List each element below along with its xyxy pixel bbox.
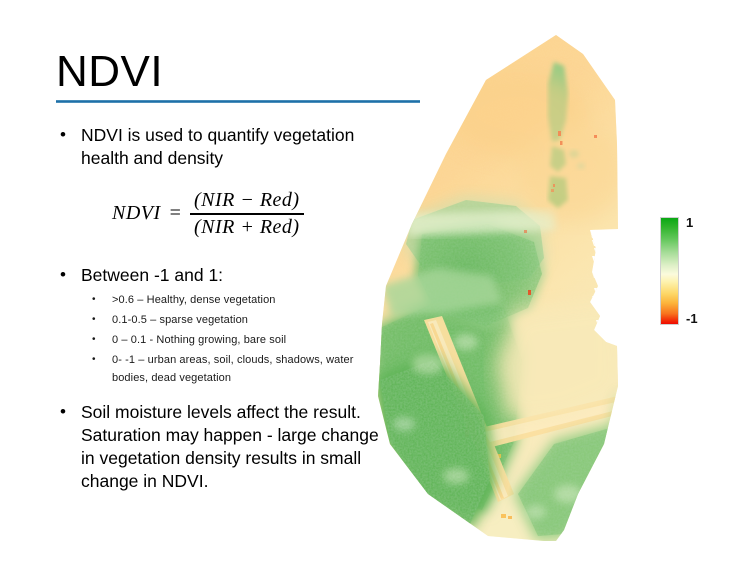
title-underline-rule xyxy=(56,100,420,103)
formula-denominator: (NIR + Red) xyxy=(190,215,304,240)
ndvi-range-list: >0.6 – Healthy, dense vegetation 0.1-0.5… xyxy=(56,292,386,387)
ndvi-colorbar-legend: 1 -1 xyxy=(660,217,720,327)
bullet-soil-moisture: Soil moisture levels affect the result. … xyxy=(56,401,386,493)
formula-numerator: (NIR − Red) xyxy=(190,188,304,213)
page-title: NDVI xyxy=(56,46,163,98)
formula-equals-sign: = xyxy=(170,202,181,225)
list-item: >0.6 – Healthy, dense vegetation xyxy=(90,292,386,310)
bullet-range-heading: Between -1 and 1: xyxy=(56,264,386,287)
list-item: 0- -1 – urban areas, soil, clouds, shado… xyxy=(90,352,386,387)
list-item: 0.1-0.5 – sparse vegetation xyxy=(90,312,386,330)
formula-fraction: (NIR − Red) (NIR + Red) xyxy=(190,188,304,240)
colorbar-max-label: 1 xyxy=(686,215,693,230)
ndvi-raster-image xyxy=(368,24,638,549)
ndvi-formula: NDVI = (NIR − Red) (NIR + Red) xyxy=(56,186,386,250)
colorbar-gradient xyxy=(660,217,679,325)
formula-lhs: NDVI xyxy=(112,202,161,225)
bullet-intro: NDVI is used to quantify vegetation heal… xyxy=(56,124,386,170)
slide-body-content: NDVI is used to quantify vegetation heal… xyxy=(56,124,386,495)
list-item: 0 – 0.1 - Nothing growing, bare soil xyxy=(90,332,386,350)
colorbar-min-label: -1 xyxy=(686,311,698,326)
ndvi-map-figure xyxy=(368,24,638,549)
